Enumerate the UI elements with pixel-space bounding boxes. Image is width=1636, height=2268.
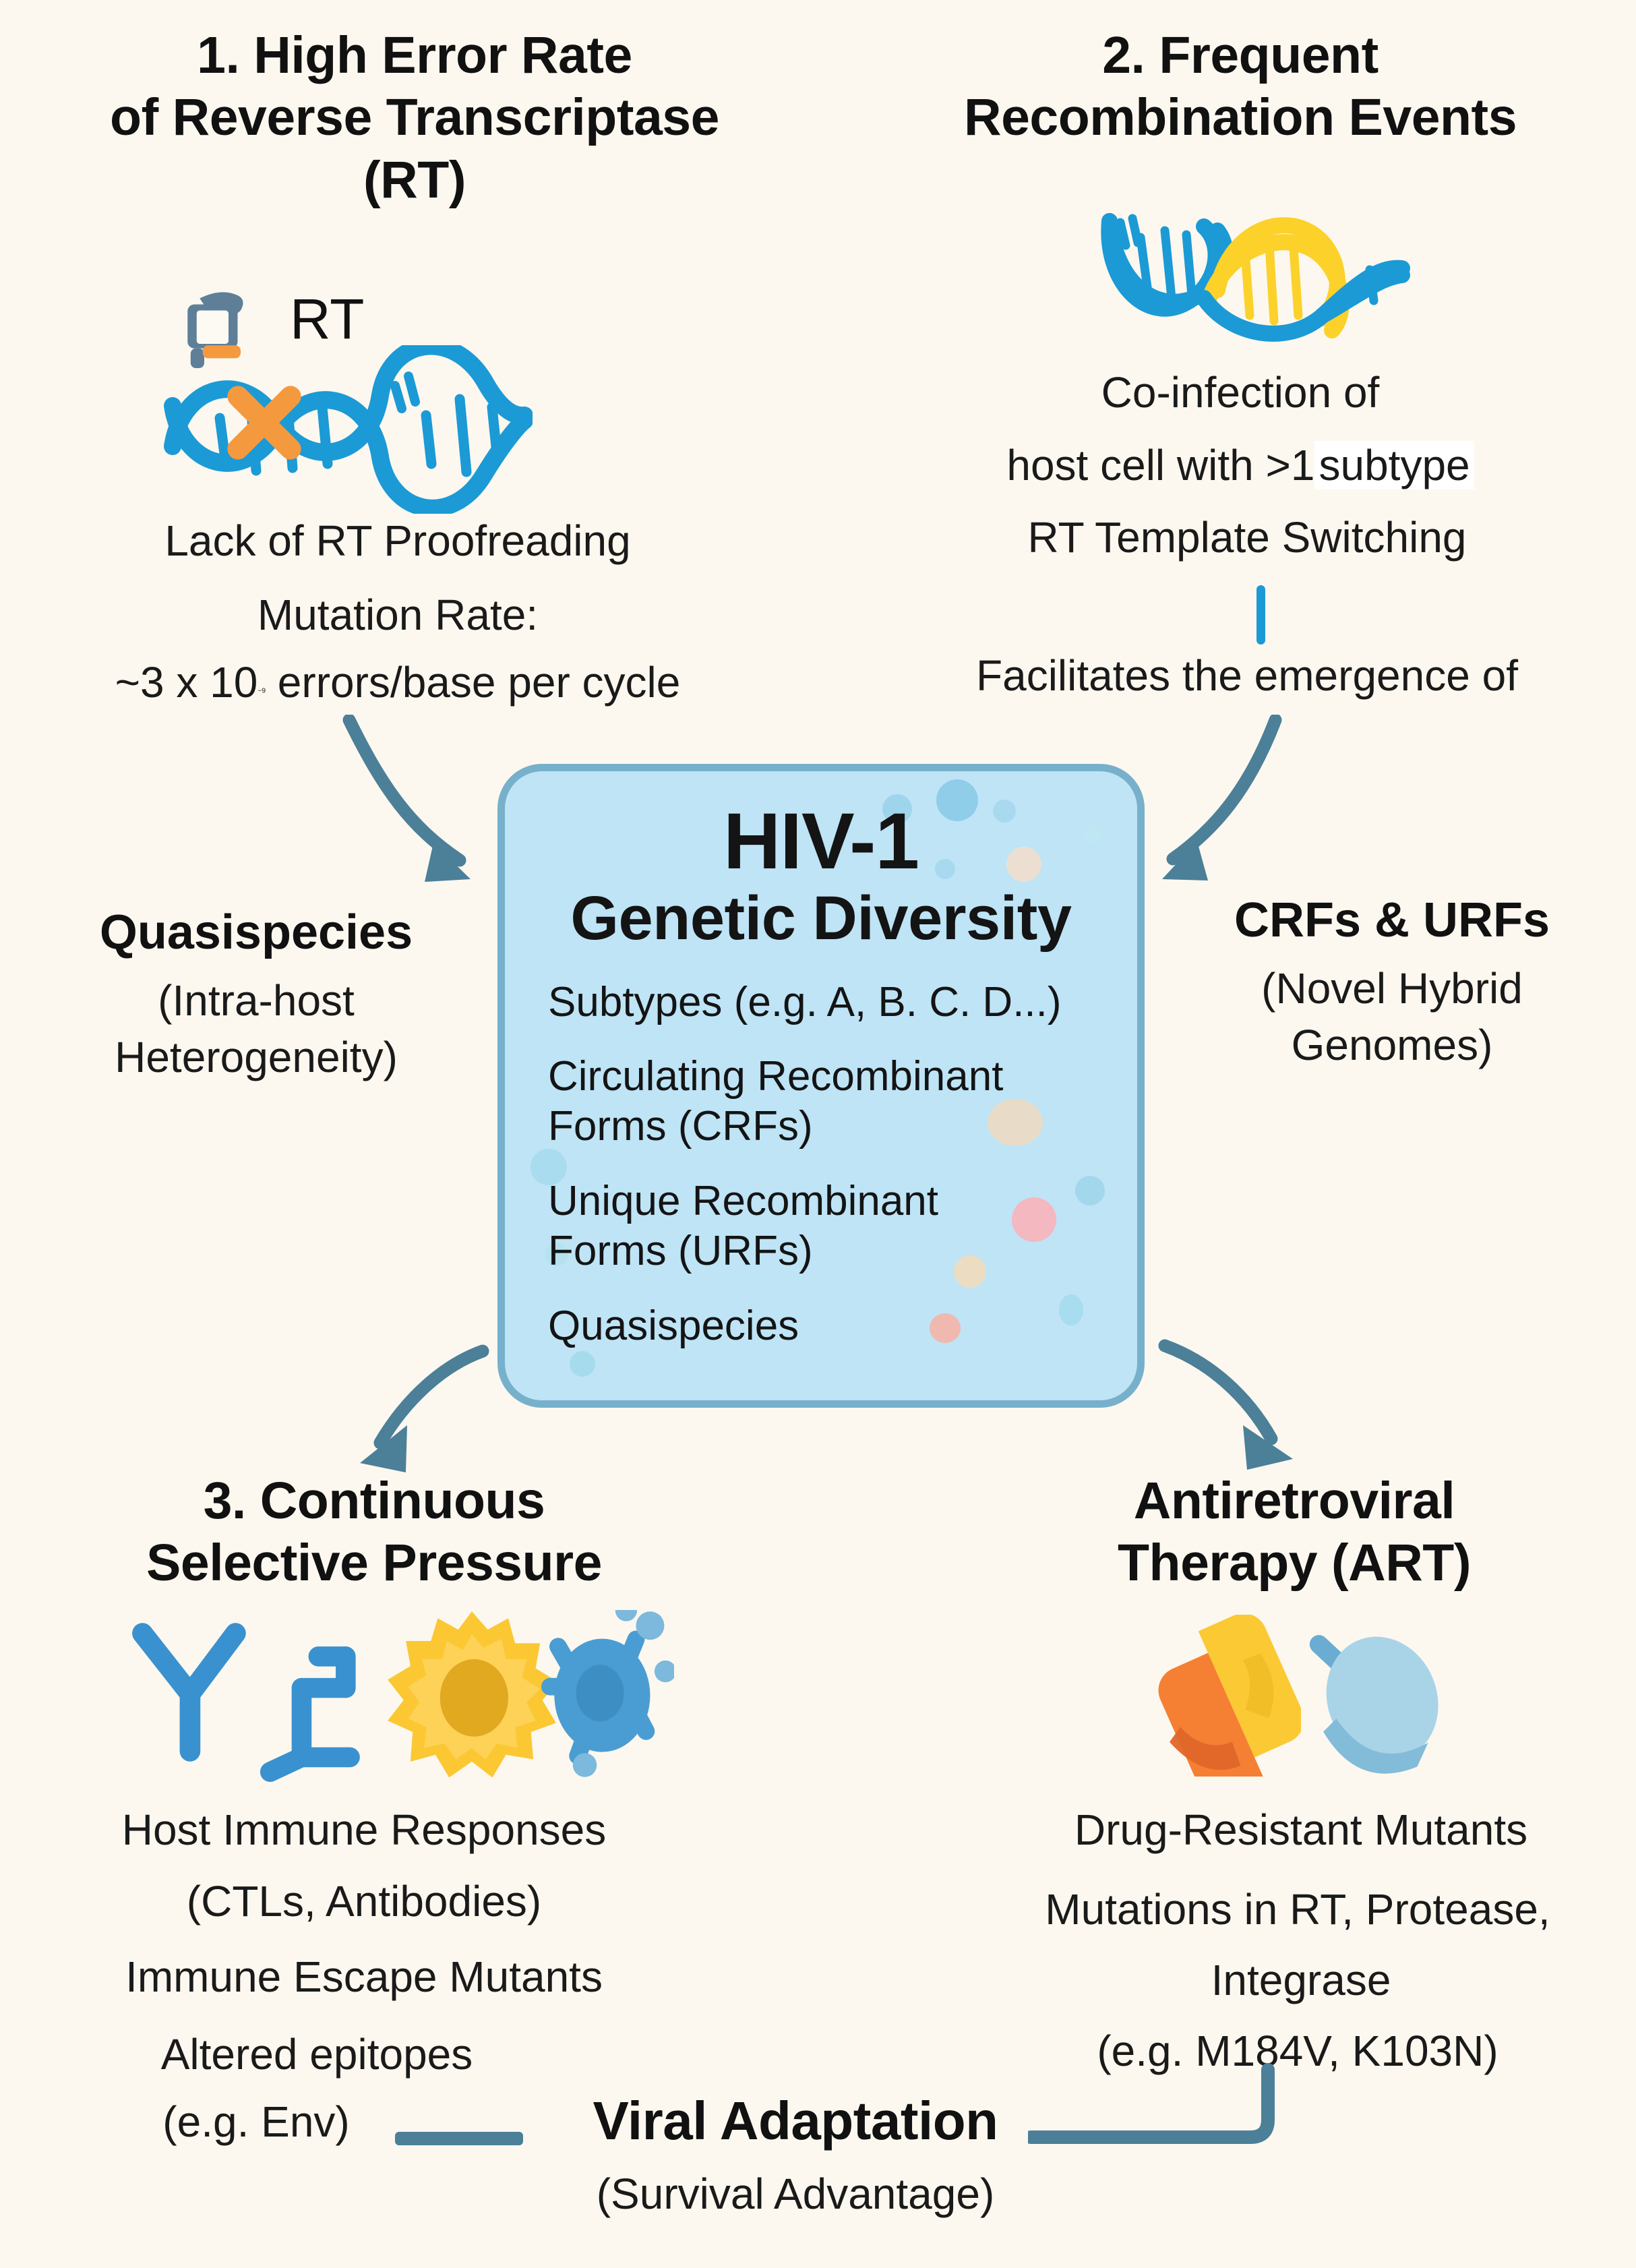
- footer-subtitle: (Survival Advantage): [519, 2166, 1072, 2222]
- left-outcome-sub-line-2: Heterogeneity): [40, 1029, 472, 1085]
- driver-1-detail-1: Lack of RT Proofreading: [40, 512, 755, 569]
- driver-4-detail-2-line-2: Integrase: [977, 1952, 1625, 2008]
- vertical-connector-line: [1256, 585, 1265, 645]
- driver-1-heading-line-3: (RT): [27, 149, 802, 211]
- rt-enzyme-label: RT: [290, 287, 364, 352]
- subtype-highlight: subtype: [1314, 441, 1474, 489]
- driver-1-heading-line-2: of Reverse Transcriptase: [27, 86, 802, 148]
- infographic-canvas: 1. High Error Rate of Reverse Transcript…: [0, 0, 1636, 2268]
- driver-1-heading-line-1: 1. High Error Rate: [27, 24, 802, 86]
- left-outcome-quasispecies: Quasispecies (Intra-host Heterogeneity): [40, 903, 472, 1086]
- driver-2-detail-1-line-2: host cell with >1subtype: [876, 437, 1604, 494]
- mutation-rate-prefix: ~3 x 10: [115, 658, 258, 707]
- tablet-pill-icon: [1304, 1618, 1449, 1777]
- driver-3-detail-2: (CTLs, Antibodies): [27, 1873, 701, 1930]
- center-diversity-list: Subtypes (e.g. A, B. C. D...) Circulatin…: [505, 978, 1137, 1351]
- driver-2-detail-3: Facilitates the emergence of: [876, 647, 1618, 704]
- list-item: Circulating Recombinant Forms (CRFs): [548, 1052, 1117, 1152]
- driver-4-detail-2-line-1: Mutations in RT, Protease,: [964, 1881, 1631, 1938]
- driver-1-heading: 1. High Error Rate of Reverse Transcript…: [27, 24, 802, 211]
- virus-particle-icon: [533, 1610, 674, 1779]
- driver-1-detail-2: Mutation Rate:: [40, 587, 755, 643]
- driver-3-heading-line-2: Selective Pressure: [27, 1532, 721, 1594]
- coinfection-text: host cell with >1: [1006, 441, 1314, 489]
- right-outcome-crfs-urfs: CRFs & URFs (Novel Hybrid Genomes): [1183, 891, 1601, 1074]
- driver-4-heading-line-1: Antiretroviral: [991, 1470, 1598, 1532]
- driver-2-heading-line-2: Recombination Events: [870, 86, 1611, 148]
- list-item: Quasispecies: [548, 1301, 1117, 1351]
- list-item: Unique Recombinant Forms (URFs): [548, 1176, 1117, 1277]
- right-outcome-sub-line-1: (Novel Hybrid: [1183, 960, 1601, 1017]
- driver-2-detail-2: RT Template Switching: [890, 509, 1604, 566]
- dna-helix-blue-icon: [155, 345, 533, 514]
- driver-3-detail-4: Altered epitopes: [13, 2026, 620, 2083]
- driver-4-heading: Antiretroviral Therapy (ART): [991, 1470, 1598, 1594]
- mutation-cross-icon: [220, 379, 308, 467]
- driver-4-heading-line-2: Therapy (ART): [991, 1532, 1598, 1594]
- driver-3-heading: 3. Continuous Selective Pressure: [27, 1470, 721, 1594]
- antibody-receptor-icon: [248, 1640, 376, 1787]
- left-outcome-sub-line-1: (Intra-host: [40, 972, 472, 1029]
- center-title-primary: HIV-1: [505, 801, 1137, 882]
- driver-3-detail-3: Immune Escape Mutants: [27, 1948, 701, 2005]
- driver-1-mutation-rate: ~3 x 10−9 errors/base per cycle: [20, 654, 775, 711]
- hiv-genetic-diversity-box: HIV-1 Genetic Diversity Subtypes (e.g. A…: [497, 764, 1145, 1408]
- right-outcome-sub-line-2: Genomes): [1183, 1017, 1601, 1073]
- driver-3-heading-line-1: 3. Continuous: [27, 1470, 721, 1532]
- driver-2-heading-line-1: 2. Frequent: [870, 24, 1611, 86]
- footer-connector-left: [395, 2132, 523, 2145]
- driver-3-detail-1: Host Immune Responses: [27, 1801, 701, 1858]
- dna-helix-recombinant-icon: [1085, 196, 1422, 351]
- center-title-secondary: Genetic Diversity: [505, 885, 1137, 953]
- driver-4-detail-1: Drug-Resistant Mutants: [977, 1801, 1625, 1858]
- right-outcome-title: CRFs & URFs: [1183, 891, 1601, 951]
- antibody-icon: [118, 1615, 266, 1770]
- capsule-pill-icon: [1146, 1615, 1301, 1777]
- list-item: Subtypes (e.g. A, B. C. D...): [548, 978, 1117, 1027]
- footer-title: Viral Adaptation: [519, 2089, 1072, 2153]
- driver-2-heading: 2. Frequent Recombination Events: [870, 24, 1611, 149]
- mutation-rate-exponent: −9: [257, 688, 266, 695]
- driver-2-detail-1-line-1: Co-infection of: [897, 364, 1584, 421]
- mutation-rate-suffix: errors/base per cycle: [266, 658, 680, 707]
- left-outcome-title: Quasispecies: [40, 903, 472, 963]
